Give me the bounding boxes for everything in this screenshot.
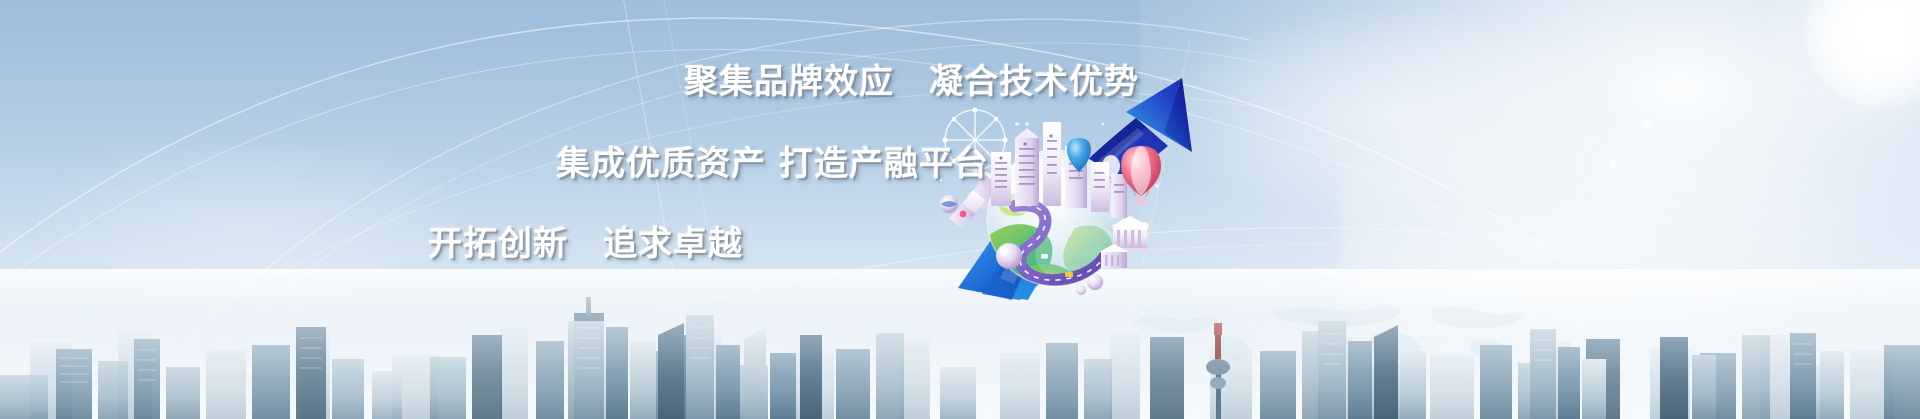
- orbit-arc-lines: [0, 0, 1920, 419]
- skyline-haze: [0, 269, 1920, 419]
- slogan-group: 聚集品牌效应 凝合技术优势 集成优质资产 打造产融平台 开拓创新 追求卓越: [0, 0, 1920, 419]
- city-skyline-silhouette: [0, 279, 1920, 419]
- lens-flare-dot-icon: [1608, 158, 1618, 168]
- pearl-sphere-icon: [996, 243, 1022, 269]
- lens-flare-ring-icon: [1578, 178, 1640, 240]
- lens-flare-ring-icon: [1578, 128, 1652, 226]
- sun-flare-icon: [1805, 0, 1920, 108]
- cloud-wisp-icon: [1340, 120, 1860, 360]
- slogan-line-1: 聚集品牌效应 凝合技术优势: [684, 54, 1139, 103]
- world-map-outline-icon: [1120, 283, 1540, 373]
- pearl-sphere-icon: [940, 195, 958, 213]
- sun-rays-icon: [1700, 0, 1920, 260]
- lens-flare-dot-icon: [1640, 118, 1652, 130]
- cloud-wisp-icon: [40, 140, 460, 320]
- globe-city-illustration: [905, 78, 1205, 298]
- balloon-icon: [1067, 138, 1091, 172]
- slogan-line-2: 集成优质资产 打造产融平台: [556, 136, 989, 185]
- sky-haze: [1140, 0, 1920, 400]
- slogan-line-3: 开拓创新 追求卓越: [428, 216, 743, 265]
- hot-air-balloon-icon: [1121, 146, 1161, 205]
- corporate-hero-banner: 聚集品牌效应 凝合技术优势 集成优质资产 打造产融平台 开拓创新 追求卓越: [0, 0, 1920, 419]
- cloud-wisp-icon: [1160, 10, 1620, 220]
- upward-growth-arrow-icon: [940, 80, 1200, 300]
